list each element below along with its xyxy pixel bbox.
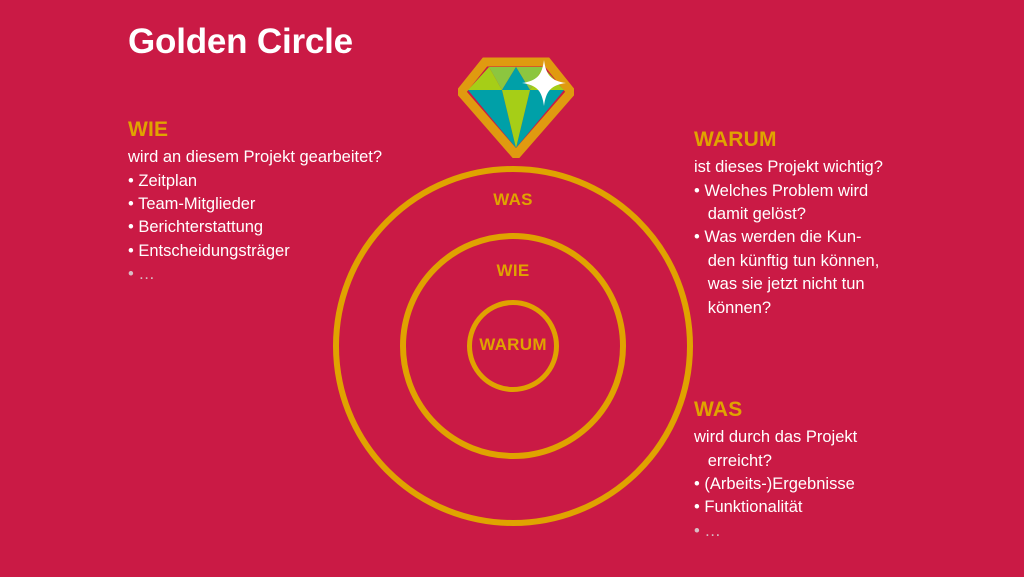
block-warum-line-2: damit gelöst?: [694, 203, 974, 226]
block-wie-line-2: • Team-Mitglieder: [128, 193, 458, 216]
block-warum-line-1: • Welches Problem wird: [694, 180, 974, 203]
text-block-wie: WIE wird an diesem Projekt gearbeitet? •…: [128, 118, 458, 287]
block-wie-line-ellipsis: • …: [128, 263, 458, 286]
block-was-line-ellipsis: • …: [694, 520, 974, 543]
text-block-warum: WARUM ist dieses Projekt wichtig? • Welc…: [694, 128, 974, 320]
block-warum-line-0: ist dieses Projekt wichtig?: [694, 156, 974, 179]
block-wie-line-1: • Zeitplan: [128, 170, 458, 193]
diamond-icon: [458, 56, 574, 158]
block-warum-line-4: den künftig tun können,: [694, 250, 974, 273]
block-wie-line-0: wird an diesem Projekt gearbeitet?: [128, 146, 458, 169]
block-warum-line-3: • Was werden die Kun-: [694, 226, 974, 249]
page-title: Golden Circle: [128, 22, 353, 62]
text-block-was: WAS wird durch das Projekt erreicht? • (…: [694, 398, 974, 543]
block-was-line-2: • (Arbeits-)Ergebnisse: [694, 473, 974, 496]
block-was-heading: WAS: [694, 398, 974, 422]
ring-inner-warum: [467, 300, 559, 392]
block-was-line-0: wird durch das Projekt: [694, 426, 974, 449]
ring-label-warum: WARUM: [413, 335, 613, 355]
block-warum-heading: WARUM: [694, 128, 974, 152]
block-warum-line-5: was sie jetzt nicht tun: [694, 273, 974, 296]
slide-canvas: Golden Circle WAS WIE WARUM WIE: [0, 0, 1024, 577]
block-wie-line-4: • Entscheidungsträger: [128, 240, 458, 263]
block-warum-line-6: können?: [694, 297, 974, 320]
block-was-line-3: • Funktionalität: [694, 496, 974, 519]
block-wie-heading: WIE: [128, 118, 458, 142]
block-wie-line-3: • Berichterstattung: [128, 216, 458, 239]
block-was-line-1: erreicht?: [694, 450, 974, 473]
